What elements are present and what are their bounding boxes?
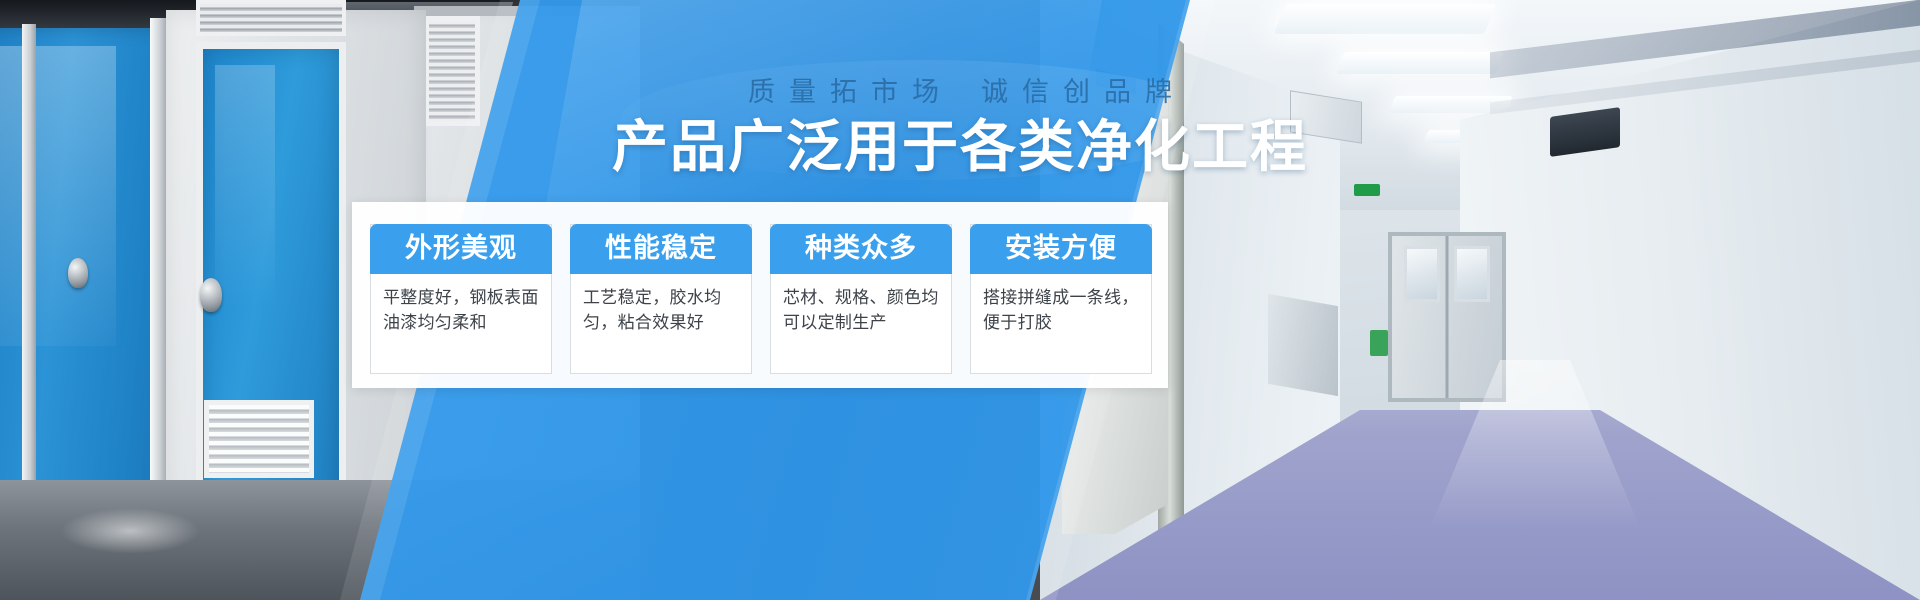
banner-tagline: 质量拓市场诚信创品牌 [0, 70, 1920, 109]
corridor-cart [1268, 294, 1338, 396]
door-handle-icon [200, 278, 222, 312]
ground-highlight [60, 508, 200, 554]
feature-card[interactable]: 性能稳定 工艺稳定，胶水均匀，粘合效果好 [570, 224, 752, 374]
door-window [1404, 246, 1440, 302]
feature-card-title: 种类众多 [770, 224, 952, 274]
feature-card-title: 性能稳定 [570, 224, 752, 274]
feature-card[interactable]: 种类众多 芯材、规格、颜色均可以定制生产 [770, 224, 952, 374]
feature-card[interactable]: 外形美观 平整度好，钢板表面油漆均匀柔和 [370, 224, 552, 374]
feature-cards-row: 外形美观 平整度好，钢板表面油漆均匀柔和 性能稳定 工艺稳定，胶水均匀，粘合效果… [370, 224, 1152, 374]
ceiling-light-icon [1274, 4, 1496, 34]
tagline-right-text: 诚信创品牌 [981, 77, 1186, 108]
feature-card-title: 安装方便 [970, 224, 1152, 274]
feature-card-title: 外形美观 [370, 224, 552, 274]
feature-card-body: 工艺稳定，胶水均匀，粘合效果好 [571, 274, 751, 350]
feature-cards-panel: 外形美观 平整度好，钢板表面油漆均匀柔和 性能稳定 工艺稳定，胶水均匀，粘合效果… [352, 202, 1168, 388]
banner-headline: 产品广泛用于各类净化工程 [0, 116, 1920, 180]
promo-banner: 质量拓市场诚信创品牌 产品广泛用于各类净化工程 外形美观 平整度好，钢板表面油漆… [0, 0, 1920, 600]
exit-sign-icon [1354, 184, 1380, 196]
tagline-left-text: 质量拓市场 [748, 77, 953, 108]
feature-card-body: 搭接拼缝成一条线，便于打胶 [971, 274, 1151, 350]
door-window [1454, 246, 1490, 302]
feature-card-body: 芯材、规格、颜色均可以定制生产 [771, 274, 951, 350]
feature-card[interactable]: 安装方便 搭接拼缝成一条线，便于打胶 [970, 224, 1152, 374]
vent-louver-door [204, 400, 314, 478]
feature-card-body: 平整度好，钢板表面油漆均匀柔和 [371, 274, 551, 350]
door-lock-icon [68, 258, 88, 288]
vent-louver-top [196, 0, 346, 36]
green-fixture [1370, 330, 1388, 356]
